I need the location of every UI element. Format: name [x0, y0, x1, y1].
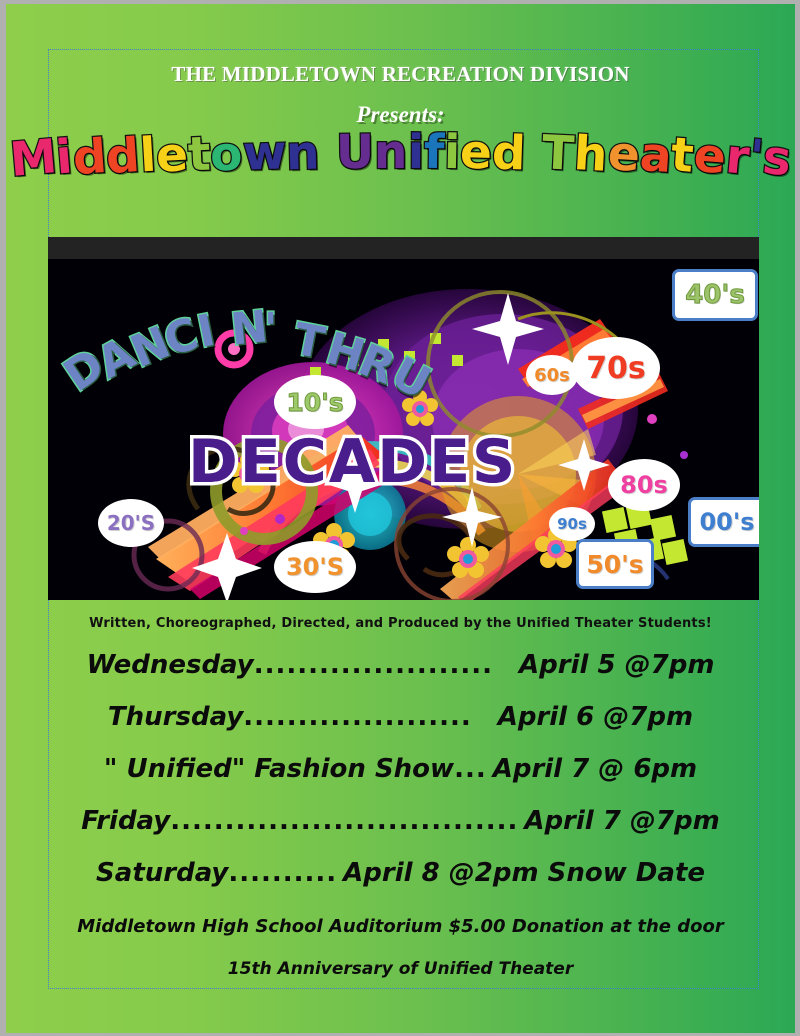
schedule-time: April 5 @7pm: [519, 650, 714, 680]
show-title: Middletown Unified Theater's: [6, 135, 795, 182]
decade-bubble-50s: 50's: [576, 539, 654, 589]
anniversary-line: 15th Anniversary of Unified Theater: [6, 959, 795, 979]
title-letter: [319, 129, 336, 176]
venue-line: Middletown High School Auditorium $5.00 …: [6, 916, 795, 937]
title-letter: f: [423, 129, 444, 176]
decades-headline: DECADES: [188, 427, 517, 497]
schedule-time: April 7 @7pm: [524, 806, 719, 836]
schedule-dots: .....................: [243, 702, 471, 732]
organization-title: THE MIDDLETOWN RECREATION DIVISION: [6, 62, 795, 87]
schedule-dots: ...: [454, 754, 487, 784]
schedule-row: Thursday.....................April 6 @7p…: [6, 702, 795, 754]
title-letter: s: [761, 134, 794, 184]
title-letter: e: [606, 130, 641, 179]
schedule-time: April 8 @2pm Snow Date: [343, 858, 705, 888]
schedule-day: " Unified" Fashion Show: [104, 754, 454, 784]
decade-bubble-70s: 70s: [572, 337, 660, 399]
title-letter: d: [105, 132, 142, 181]
schedule-row: Friday................................Ap…: [6, 806, 795, 858]
artwork-stage: DANCIN' THRU DECADES DECADES 10's 60s 70…: [48, 259, 759, 600]
title-letter: T: [541, 129, 575, 177]
title-letter: n: [374, 129, 408, 176]
title-letter: h: [573, 130, 609, 179]
schedule-row: Wednesday......................April 5 @…: [6, 650, 795, 702]
decade-bubble-10s: 10's: [274, 375, 356, 429]
title-letter: i: [444, 129, 461, 176]
poster-canvas: THE MIDDLETOWN RECREATION DIVISION Prese…: [6, 4, 795, 1033]
schedule-day: Wednesday: [87, 650, 254, 680]
title-letter: e: [692, 132, 728, 181]
title-letter: o: [210, 130, 244, 178]
artwork-panel: DANCIN' THRU DECADES DECADES 10's 60s 70…: [48, 237, 759, 600]
title-letter: M: [8, 133, 59, 184]
decade-bubble-40s: 40's: [672, 269, 758, 321]
schedule-dots: ................................: [170, 806, 518, 836]
decade-bubble-20s: 20'S: [98, 499, 164, 547]
decade-bubble-60s: 60s: [526, 355, 578, 395]
decade-bubble-90s: 90s: [549, 507, 595, 541]
schedule-row: Saturday ..........April 8 @2pm Snow Dat…: [6, 858, 795, 910]
schedule-day: Friday: [81, 806, 170, 836]
schedule-day: Saturday: [96, 858, 228, 888]
title-letter: n: [286, 129, 321, 177]
title-letter: e: [460, 129, 493, 177]
title-letter: U: [336, 129, 375, 176]
schedule-dots: ..........: [228, 858, 337, 888]
decade-bubble-80s: 80s: [608, 459, 680, 511]
title-letter: e: [155, 131, 189, 180]
title-letter: i: [407, 129, 423, 176]
credits-line: Written, Choreographed, Directed, and Pr…: [6, 616, 795, 631]
decade-bubble-00s: 00's: [688, 497, 759, 547]
title-letter: a: [638, 131, 673, 180]
schedule-time: April 6 @7pm: [498, 702, 693, 732]
title-letter: w: [242, 130, 287, 178]
title-letter: d: [491, 129, 526, 177]
title-letter: d: [71, 132, 108, 181]
decade-bubble-30s: 30'S: [274, 541, 356, 593]
schedule-list: Wednesday......................April 5 @…: [6, 650, 795, 910]
schedule-dots: ......................: [254, 650, 493, 680]
schedule-row: " Unified" Fashion Show...April 7 @ 6pm: [6, 754, 795, 806]
schedule-time: April 7 @ 6pm: [493, 754, 697, 784]
title-letter: t: [187, 131, 212, 179]
schedule-day: Thursday: [108, 702, 243, 732]
artwork-topbar: [48, 237, 759, 259]
